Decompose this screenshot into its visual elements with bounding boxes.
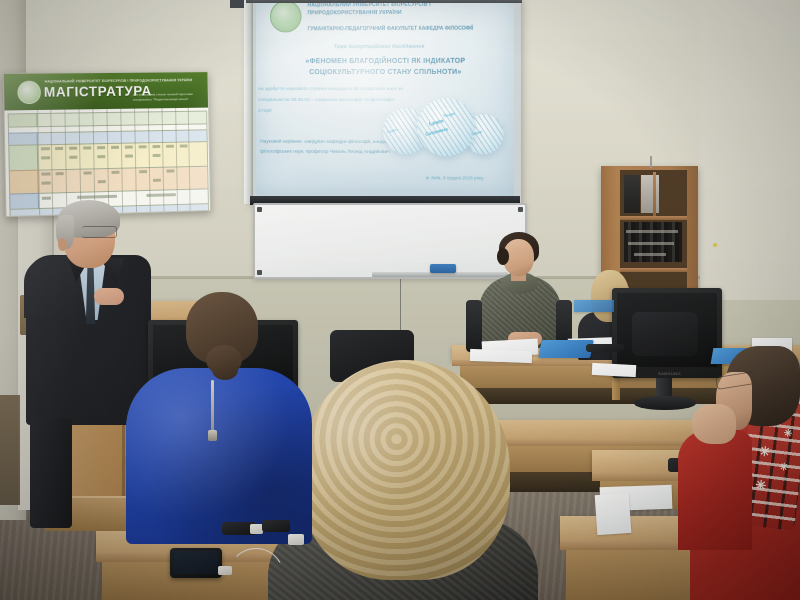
speaker-glasses: [82, 226, 117, 238]
projection-screen: НАЦІОНАЛЬНИЙ УНІВЕРСИТЕТ БІОРЕСУРСІВ І П…: [256, 0, 514, 197]
pen-case-center: [586, 344, 624, 352]
committee-hair-bun: [497, 248, 509, 265]
speaker-ear: [58, 238, 67, 251]
shelf-item-dark: [624, 175, 640, 213]
poster-schedule-table: [5, 108, 210, 216]
chair-back-right[interactable]: [632, 312, 698, 356]
chair-arm-left[interactable]: [466, 300, 482, 352]
cable-plug-b: [288, 534, 304, 545]
paper-committee-2: [470, 349, 532, 363]
blue-dress-shading: [126, 368, 312, 544]
red-sweater-arm: [678, 430, 752, 550]
wall-marker-dot: [713, 243, 717, 247]
blue-folder-back[interactable]: [574, 300, 614, 312]
wall-right: [700, 0, 800, 300]
screen-left-rail: [244, 0, 253, 204]
smartphone-screen[interactable]: [174, 551, 218, 574]
slide-wordcloud-spheres: Learn Customers Target Learn Learn: [383, 96, 502, 171]
speaker-trousers: [30, 418, 72, 528]
paper-back-right: [592, 363, 637, 377]
dress-zipper-pull: [208, 430, 217, 441]
red-sweater-hand: [692, 404, 736, 444]
shelf-item-grey: [641, 175, 659, 213]
university-logo-icon: [270, 0, 302, 32]
blue-dress-hair-bun-inner: [212, 360, 238, 380]
shelf-rod: [650, 156, 652, 168]
curly-attendee-hair: [300, 360, 510, 580]
monitor-brand-label: SAMSUNG: [658, 371, 681, 376]
paper-right-lower: [595, 493, 632, 535]
speaker-hand: [94, 288, 124, 305]
slide-title: «ФЕНОМЕН БЛАГОДІЙНОСТІ ЯК ІНДИКАТОР СОЦІ…: [270, 57, 502, 79]
wall-poster-magistratura: НАЦІОНАЛЬНИЙ УНІВЕРСИТЕТ БІОРЕСУРСІВ І П…: [3, 71, 211, 217]
bookshelf-books: [624, 222, 682, 262]
wall-panel-dark: [0, 395, 20, 505]
slide-place-date: м. Київ, 9 грудня 2016 року: [256, 174, 483, 180]
slide-subtitle: Тема дисертаційного дослідження: [256, 44, 503, 51]
bookshelf-divider: [653, 172, 656, 216]
university-seal-icon: [17, 81, 41, 105]
screen-roller-bar: [246, 0, 522, 3]
dress-zipper: [211, 380, 214, 432]
poster-side-note: для випускників з інших галузей підготов…: [133, 92, 203, 102]
slide-faculty: ГУМАНІТАРНО-ПЕДАГОГІЧНИЙ ФАКУЛЬТЕТ КАФЕД…: [307, 24, 502, 33]
whiteboard: [253, 203, 527, 279]
cable-adapter-b: [262, 520, 290, 532]
lecture-room-photo: НАЦІОНАЛЬНИЙ УНІВЕРСИТЕТ БІОРЕСУРСІВ І П…: [0, 0, 800, 600]
whiteboard-eraser[interactable]: [430, 264, 456, 273]
presentation-slide: НАЦІОНАЛЬНИЙ УНІВЕРСИТЕТ БІОРЕСУРСІВ І П…: [256, 0, 514, 197]
